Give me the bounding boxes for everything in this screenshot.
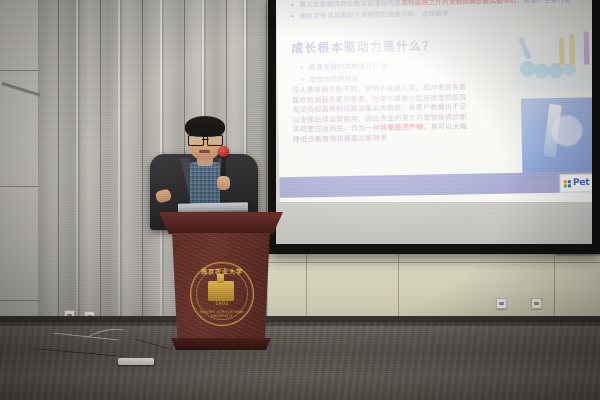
bullet-dot: • (291, 12, 295, 21)
projection-screen: • 第三方宠物疾病诊断实验室指的是宠物医院之外的宠物疾病诊断实验中心，其客户主要… (268, 0, 600, 254)
speaker-mouth (199, 150, 210, 153)
slide-heading: 成长根本驱动力是什么？ (291, 38, 435, 55)
university-emblem: 南京农业大学 1902 NANJING AGRICULTURAL UNIVERS… (190, 262, 254, 326)
bullet-dot: • (300, 76, 304, 85)
presentation-slide: • 第三方宠物疾病诊断实验室指的是宠物医院之外的宠物疾病诊断实验中心，其客户主要… (276, 0, 592, 216)
coat-lapel-left (180, 158, 190, 198)
lower-beige-wall (268, 252, 600, 324)
slide-footer-band (279, 171, 592, 198)
highlight-text: 宠物医院之外的宠物疾病诊断实验中心 (401, 0, 517, 7)
emblem-shield-icon (208, 281, 234, 301)
glasses-icon (188, 135, 223, 144)
pet-logo-word: Pet (573, 178, 590, 189)
far-left-wall (0, 0, 38, 340)
speaker-hair (185, 116, 225, 137)
podium: 南京农业大学 1902 NANJING AGRICULTURAL UNIVERS… (157, 212, 285, 352)
bullet-text: 通俗点来说其类似于宠物界的迪安诊断、金域医学 (300, 9, 449, 21)
podium-base (171, 338, 271, 350)
body-emphasis: 共享经济产物 (380, 123, 424, 132)
power-outlet[interactable] (531, 298, 542, 309)
lab-pipette-photo (521, 97, 592, 181)
lecture-hall-photo: • 第三方宠物疾病诊断实验室指的是宠物医院之外的宠物疾病诊断实验中心，其客户主要… (0, 0, 600, 400)
power-outlet[interactable] (496, 298, 507, 309)
sub-bullet-text: 高速发展的宠物医疗行业 (309, 62, 387, 73)
emblem-year: 1902 (191, 302, 253, 307)
pet-logo-squares (564, 180, 571, 187)
speaker-hand-right (217, 176, 230, 190)
emblem-english-name: NANJING AGRICULTURAL UNIVERSITY (191, 310, 253, 318)
handrail (2, 82, 41, 96)
lab-test-tubes-photo (512, 29, 592, 92)
microphone-icon (218, 146, 229, 157)
screen-blank-area (276, 202, 592, 244)
podium-top (159, 212, 283, 234)
pet-logo-tail: 检 (591, 179, 592, 186)
bullet-dot: • (291, 1, 295, 10)
slide-body-text: 与人类疾病诊断不同，宠物不会说人话，相对来说各类 医疗检测服务更为重要，而单个或… (292, 82, 511, 145)
pet-logo: Pet 检 (559, 173, 592, 192)
power-strip[interactable] (118, 358, 154, 365)
bullet-dot: • (300, 63, 304, 72)
slide-top-bullets: • 第三方宠物疾病诊断实验室指的是宠物医院之外的宠物疾病诊断实验中心，其客户主要… (291, 0, 592, 24)
screen-surface: • 第三方宠物疾病诊断实验室指的是宠物医院之外的宠物疾病诊断实验中心，其客户主要… (276, 0, 592, 244)
sub-bullet-text: 宠物诊疗的刚需 (309, 75, 359, 85)
